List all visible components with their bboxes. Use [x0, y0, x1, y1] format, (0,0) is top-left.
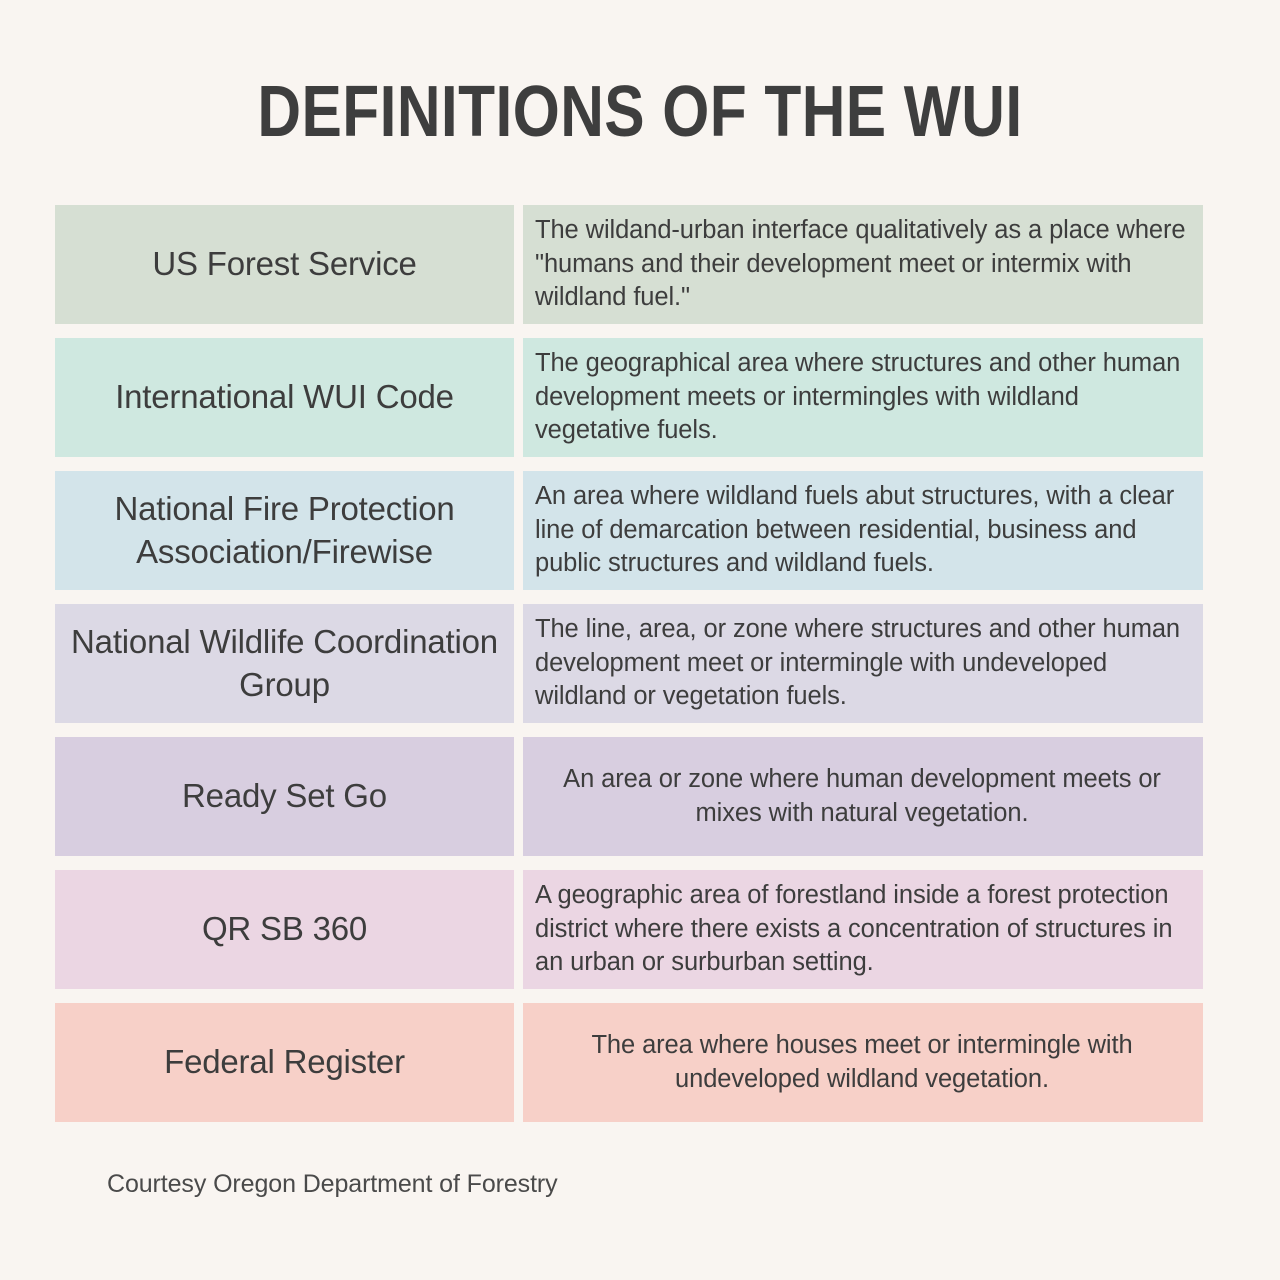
- table-row: National Wildlife Coordination GroupThe …: [55, 604, 1203, 723]
- definition-text: The area where houses meet or intermingl…: [523, 1003, 1203, 1122]
- definition-source-label: Ready Set Go: [55, 737, 514, 856]
- table-row: QR SB 360A geographic area of forestland…: [55, 870, 1203, 989]
- definition-text-body: The wildand-urban interface qualitativel…: [535, 214, 1189, 314]
- definition-text-body: An area where wildland fuels abut struct…: [535, 480, 1189, 580]
- definition-source-label: International WUI Code: [55, 338, 514, 457]
- definition-text-body: An area or zone where human development …: [535, 763, 1189, 830]
- definition-text: An area or zone where human development …: [523, 737, 1203, 856]
- definition-text: The geographical area where structures a…: [523, 338, 1203, 457]
- definitions-table: US Forest ServiceThe wildand-urban inter…: [55, 205, 1203, 1122]
- definition-text: An area where wildland fuels abut struct…: [523, 471, 1203, 590]
- definition-source-label: Federal Register: [55, 1003, 514, 1122]
- definition-text: A geographic area of forestland inside a…: [523, 870, 1203, 989]
- page-title: DEFINITIONS OF THE WUI: [102, 76, 1177, 148]
- definition-text-body: The line, area, or zone where structures…: [535, 613, 1189, 713]
- definition-source-label: QR SB 360: [55, 870, 514, 989]
- definition-text-body: The geographical area where structures a…: [535, 347, 1189, 447]
- table-row: US Forest ServiceThe wildand-urban inter…: [55, 205, 1203, 324]
- table-row: International WUI CodeThe geographical a…: [55, 338, 1203, 457]
- definition-text-body: A geographic area of forestland inside a…: [535, 879, 1189, 979]
- footer-attribution: Courtesy Oregon Department of Forestry: [107, 1170, 558, 1199]
- definition-source-label: National Fire Protection Association/Fir…: [55, 471, 514, 590]
- table-row: National Fire Protection Association/Fir…: [55, 471, 1203, 590]
- definition-text: The wildand-urban interface qualitativel…: [523, 205, 1203, 324]
- definition-text-body: The area where houses meet or intermingl…: [535, 1029, 1189, 1096]
- definition-text: The line, area, or zone where structures…: [523, 604, 1203, 723]
- infographic-page: DEFINITIONS OF THE WUI US Forest Service…: [0, 0, 1280, 1280]
- table-row: Federal RegisterThe area where houses me…: [55, 1003, 1203, 1122]
- table-row: Ready Set GoAn area or zone where human …: [55, 737, 1203, 856]
- definition-source-label: US Forest Service: [55, 205, 514, 324]
- definition-source-label: National Wildlife Coordination Group: [55, 604, 514, 723]
